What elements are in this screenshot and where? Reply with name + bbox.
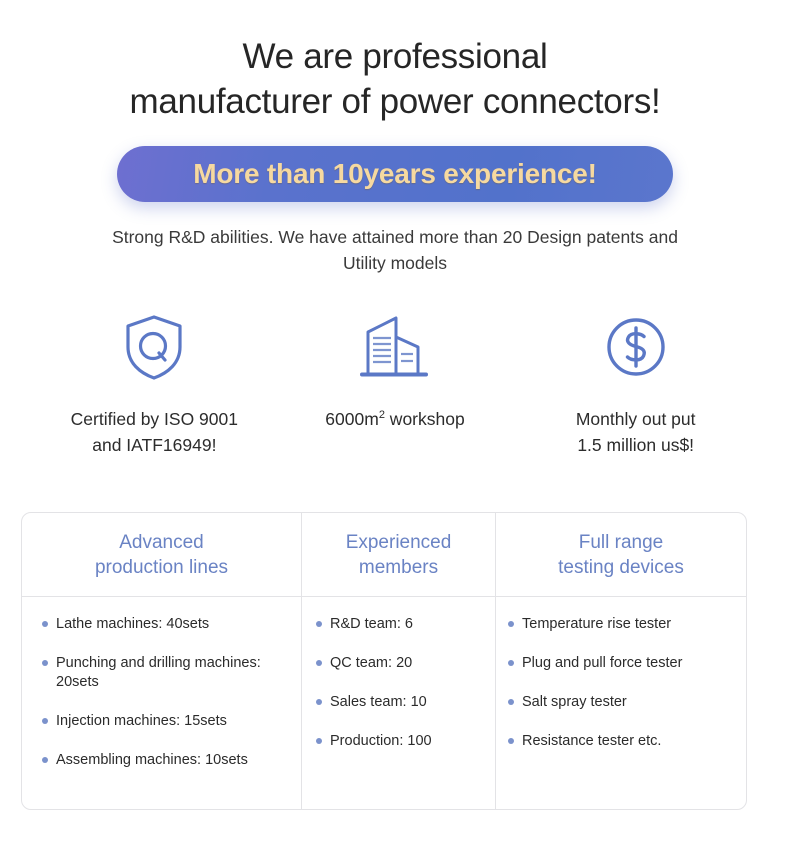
list-item: Production: 100 [302,732,495,751]
table-column-production: Lathe machines: 40sets Punching and dril… [22,597,301,809]
page-headline: We are professional manufacturer of powe… [0,0,790,124]
table-column-members: R&D team: 6 QC team: 20 Sales team: 10 P… [301,597,496,809]
factory-building-icon [275,312,516,382]
bullet-icon [316,621,322,627]
list-item-label: Salt spray tester [522,694,627,710]
list-item: Resistance tester etc. [496,732,746,751]
feature-workshop-area: 6000m [325,409,379,429]
experience-banner-label: More than 10years experience! [193,158,597,190]
capabilities-table: Advanced production lines Experienced me… [21,512,747,810]
list-item-label: Sales team: 10 [330,694,427,710]
list-item: Salt spray tester [496,693,746,712]
bullet-icon [42,757,48,763]
bullet-icon [508,699,514,705]
bullet-icon [316,738,322,744]
dollar-coin-icon [515,312,756,382]
table-header-cell-members: Experienced members [301,513,496,596]
list-item-label: R&D team: 6 [330,616,413,632]
list-item: Temperature rise tester [496,615,746,634]
list-item-label: Lathe machines: 40sets [56,616,209,632]
members-list: R&D team: 6 QC team: 20 Sales team: 10 P… [302,597,495,751]
feature-output-caption: Monthly out put 1.5 million us$! [515,406,756,458]
capabilities-table-header-row: Advanced production lines Experienced me… [22,513,746,597]
list-item-label: Assembling machines: 10sets [56,752,248,768]
table-header-testing-line-1: Full range [558,530,684,555]
feature-workshop-caption: 6000m2 workshop [275,406,516,432]
list-item-label: Punching and drilling machines: 20sets [56,655,261,690]
headline-line-1: We are professional [243,37,548,76]
feature-certification: Certified by ISO 9001 and IATF16949! [34,312,275,458]
bullet-icon [508,660,514,666]
list-item-label: Plug and pull force tester [522,655,682,671]
list-item: Injection machines: 15sets [22,712,301,731]
feature-row: Certified by ISO 9001 and IATF16949! 600… [0,312,790,458]
experience-banner[interactable]: More than 10years experience! [117,146,673,202]
headline-line-2: manufacturer of power connectors! [40,79,750,124]
bullet-icon [42,718,48,724]
bullet-icon [316,660,322,666]
feature-workshop-suffix: workshop [385,409,465,429]
testing-list: Temperature rise tester Plug and pull fo… [496,597,746,751]
capabilities-table-body: Lathe machines: 40sets Punching and dril… [22,597,746,809]
list-item: QC team: 20 [302,654,495,673]
shield-quality-icon [34,312,275,382]
subtitle: Strong R&D abilities. We have attained m… [95,224,695,276]
list-item-label: Injection machines: 15sets [56,713,227,729]
list-item-label: Resistance tester etc. [522,733,661,749]
feature-workshop: 6000m2 workshop [275,312,516,458]
production-list: Lathe machines: 40sets Punching and dril… [22,597,301,770]
list-item: Assembling machines: 10sets [22,751,301,770]
banner-container: More than 10years experience! [0,146,790,202]
table-header-cell-testing: Full range testing devices [496,513,746,596]
subtitle-line-1: Strong R&D abilities. We have attained m… [112,227,582,247]
list-item-label: QC team: 20 [330,655,412,671]
table-header-cell-production: Advanced production lines [22,513,301,596]
bullet-icon [508,621,514,627]
table-header-testing-line-2: testing devices [558,555,684,580]
list-item: Punching and drilling machines: 20sets [22,654,301,692]
table-header-members-line-2: members [346,555,452,580]
table-header-members-line-1: Experienced [346,530,452,555]
list-item: Sales team: 10 [302,693,495,712]
feature-output-caption-line-1: Monthly out put [515,406,756,432]
table-column-testing: Temperature rise tester Plug and pull fo… [496,597,746,809]
feature-certification-caption-line-1: Certified by ISO 9001 [34,406,275,432]
bullet-icon [42,621,48,627]
bullet-icon [42,660,48,666]
bullet-icon [508,738,514,744]
list-item-label: Temperature rise tester [522,616,671,632]
feature-certification-caption: Certified by ISO 9001 and IATF16949! [34,406,275,458]
feature-certification-caption-line-2: and IATF16949! [34,432,275,458]
table-header-production-line-1: Advanced [95,530,228,555]
list-item: Plug and pull force tester [496,654,746,673]
bullet-icon [316,699,322,705]
list-item-label: Production: 100 [330,733,432,749]
table-header-production-line-2: production lines [95,555,228,580]
list-item: R&D team: 6 [302,615,495,634]
list-item: Lathe machines: 40sets [22,615,301,634]
feature-output-caption-line-2: 1.5 million us$! [515,432,756,458]
feature-output: Monthly out put 1.5 million us$! [515,312,756,458]
